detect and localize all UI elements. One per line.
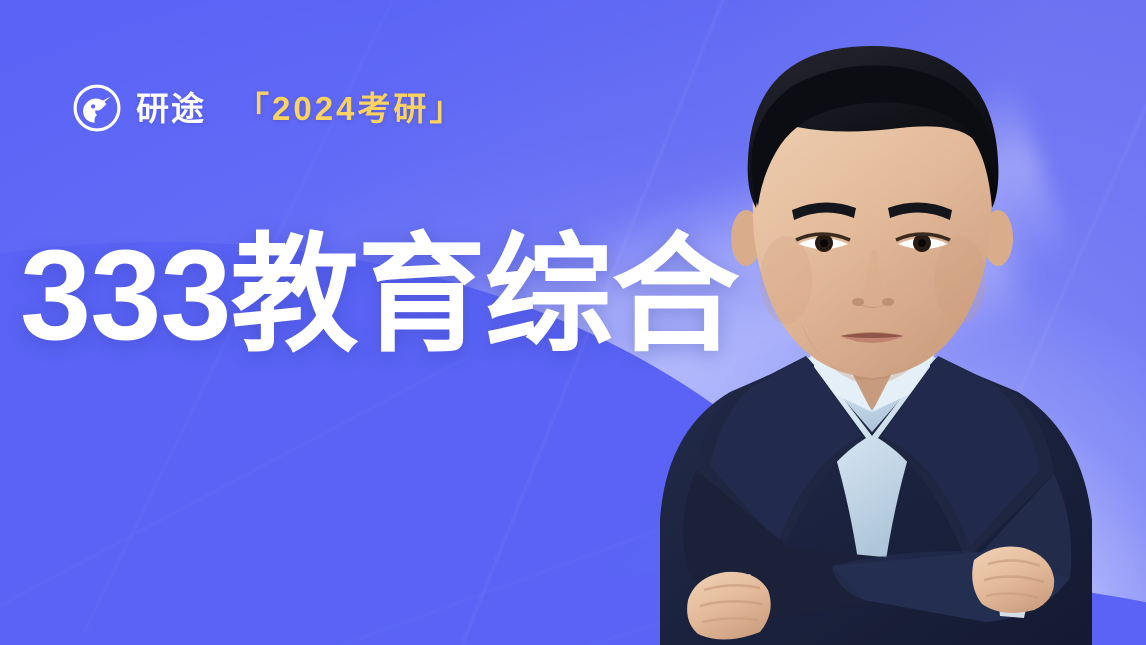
brand-header: 研途 「2024考研」 (72, 83, 465, 133)
brand-name: 研途 (136, 92, 206, 125)
page-title: 333教育综合 (20, 232, 739, 360)
unicorn-circle-logo-icon[interactable] (72, 83, 122, 133)
tagline-badge: 「2024考研」 (236, 92, 465, 125)
course-banner: 研途 「2024考研」 333教育综合 (0, 0, 1146, 645)
